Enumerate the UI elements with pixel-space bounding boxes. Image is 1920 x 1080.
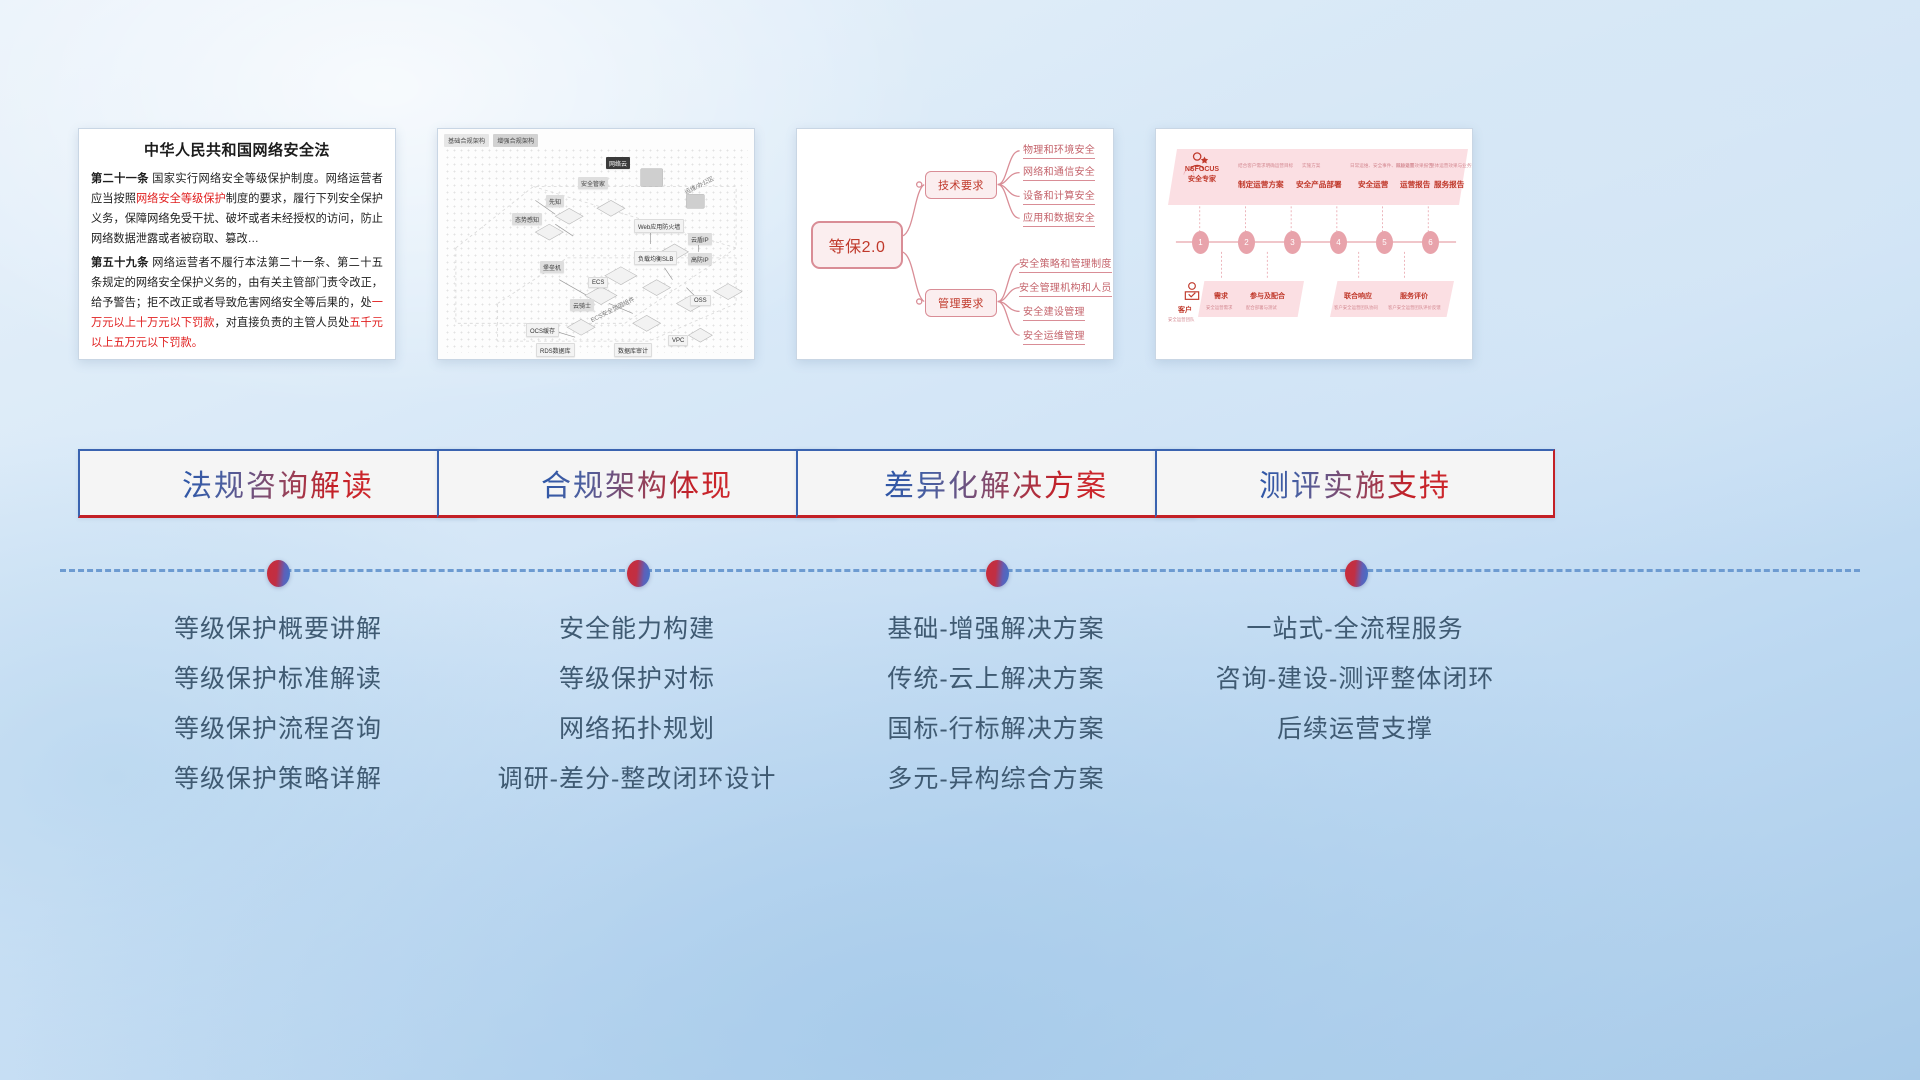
detail-list-assessment: 一站式-全流程服务 咨询-建设-测评整体闭环 后续运营支撑: [1155, 604, 1555, 754]
list-item: 等级保护概要讲解: [78, 604, 478, 654]
timeline-dot-3[interactable]: [986, 560, 1009, 587]
list-item: 一站式-全流程服务: [1155, 604, 1555, 654]
detail-list-solution: 基础-增强解决方案 传统-云上解决方案 国标-行标解决方案 多元-异构综合方案: [796, 604, 1196, 804]
heading-box-assessment[interactable]: 测评实施支持: [1155, 449, 1555, 518]
list-item: 等级保护标准解读: [78, 654, 478, 704]
heading-box-architecture[interactable]: 合规架构体现: [437, 449, 837, 518]
headings-row: 法规咨询解读 合规架构体现 差异化解决方案 测评实施支持: [0, 0, 1920, 1080]
list-item: 调研-差分-整改闭环设计: [437, 754, 837, 804]
timeline-dashed-line: [60, 569, 1860, 572]
list-item: 多元-异构综合方案: [796, 754, 1196, 804]
list-item: 等级保护流程咨询: [78, 704, 478, 754]
list-item: 国标-行标解决方案: [796, 704, 1196, 754]
list-item: 等级保护策略详解: [78, 754, 478, 804]
list-item: 传统-云上解决方案: [796, 654, 1196, 704]
detail-list-regulation: 等级保护概要讲解 等级保护标准解读 等级保护流程咨询 等级保护策略详解: [78, 604, 478, 804]
list-item: 网络拓扑规划: [437, 704, 837, 754]
timeline-dot-4[interactable]: [1345, 560, 1368, 587]
heading-label-solution: 差异化解决方案: [884, 461, 1108, 505]
timeline: [0, 560, 1920, 600]
heading-box-regulation[interactable]: 法规咨询解读: [78, 449, 478, 518]
timeline-dot-2[interactable]: [627, 560, 650, 587]
heading-label-architecture: 合规架构体现: [541, 461, 733, 505]
list-item: 咨询-建设-测评整体闭环: [1155, 654, 1555, 704]
heading-label-assessment: 测评实施支持: [1259, 461, 1451, 505]
heading-label-regulation: 法规咨询解读: [182, 461, 374, 505]
heading-box-solution[interactable]: 差异化解决方案: [796, 449, 1196, 518]
timeline-dot-1[interactable]: [267, 560, 290, 587]
list-item: 基础-增强解决方案: [796, 604, 1196, 654]
list-item: 等级保护对标: [437, 654, 837, 704]
detail-list-architecture: 安全能力构建 等级保护对标 网络拓扑规划 调研-差分-整改闭环设计: [437, 604, 837, 804]
list-item: 后续运营支撑: [1155, 704, 1555, 754]
list-item: 安全能力构建: [437, 604, 837, 654]
